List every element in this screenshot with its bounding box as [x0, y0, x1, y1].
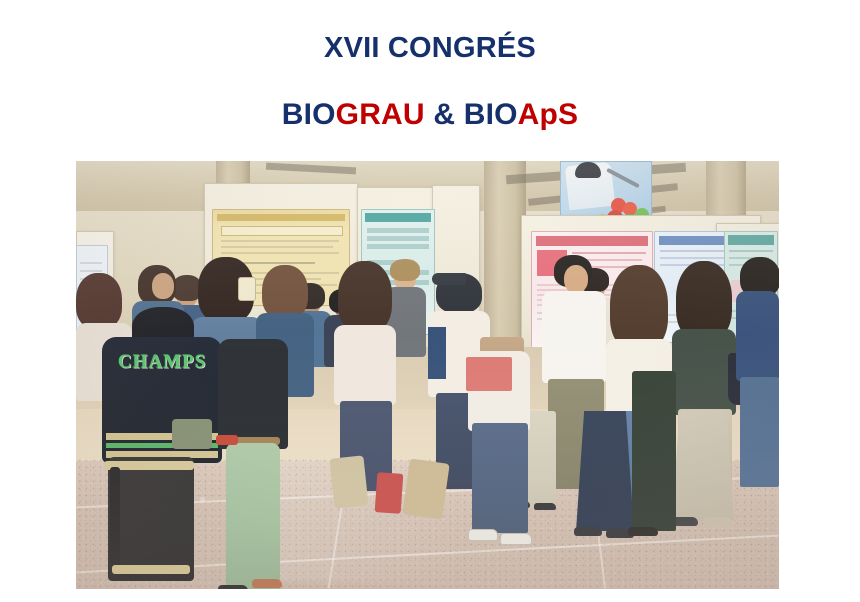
red-panel	[466, 357, 512, 391]
page-subtitle: BIOGRAU & BIOApS	[0, 63, 860, 131]
poster-header-bar	[536, 236, 648, 246]
object-on-floor	[216, 435, 238, 445]
subtitle-part-aps: ApS	[518, 98, 579, 131]
bag	[375, 472, 404, 514]
shirt-panel	[428, 327, 446, 379]
title-block: XVII CONGRÉS BIOGRAU & BIOApS	[0, 0, 860, 131]
poster-header-bar	[728, 235, 774, 245]
poster-header-bar	[217, 214, 345, 221]
subtitle-part-grau: GRAU	[336, 98, 425, 131]
subtitle-part-and-bio: & BIO	[425, 98, 518, 131]
photo-scene: CHAMPS	[76, 161, 779, 589]
poster-title-strip	[221, 226, 343, 236]
jacket-text: CHAMPS	[102, 350, 222, 374]
trouser-cuff	[112, 565, 190, 574]
page-title: XVII CONGRÉS	[0, 0, 860, 63]
sandal	[252, 579, 282, 588]
backpack-on-floor	[172, 419, 212, 449]
hair-clip	[238, 277, 256, 301]
banner-person-hair	[575, 162, 601, 178]
congress-photo: CHAMPS	[76, 161, 779, 589]
poster-header-bar	[365, 213, 431, 222]
trousers	[226, 443, 280, 589]
sneaker	[468, 529, 498, 541]
slide-canvas: XVII CONGRÉS BIOGRAU & BIOApS	[0, 0, 860, 602]
jacket-over-arm	[329, 455, 368, 508]
trousers	[108, 457, 194, 581]
jacket-over-arm	[402, 458, 449, 519]
hall-column	[484, 161, 526, 346]
strap	[110, 467, 120, 567]
sandal	[218, 585, 248, 589]
leather-jacket	[218, 339, 288, 449]
cap-brim	[432, 273, 466, 285]
sneaker	[500, 533, 532, 545]
sandal	[704, 517, 732, 526]
subtitle-part-biograu-bio: BIO	[282, 98, 336, 131]
